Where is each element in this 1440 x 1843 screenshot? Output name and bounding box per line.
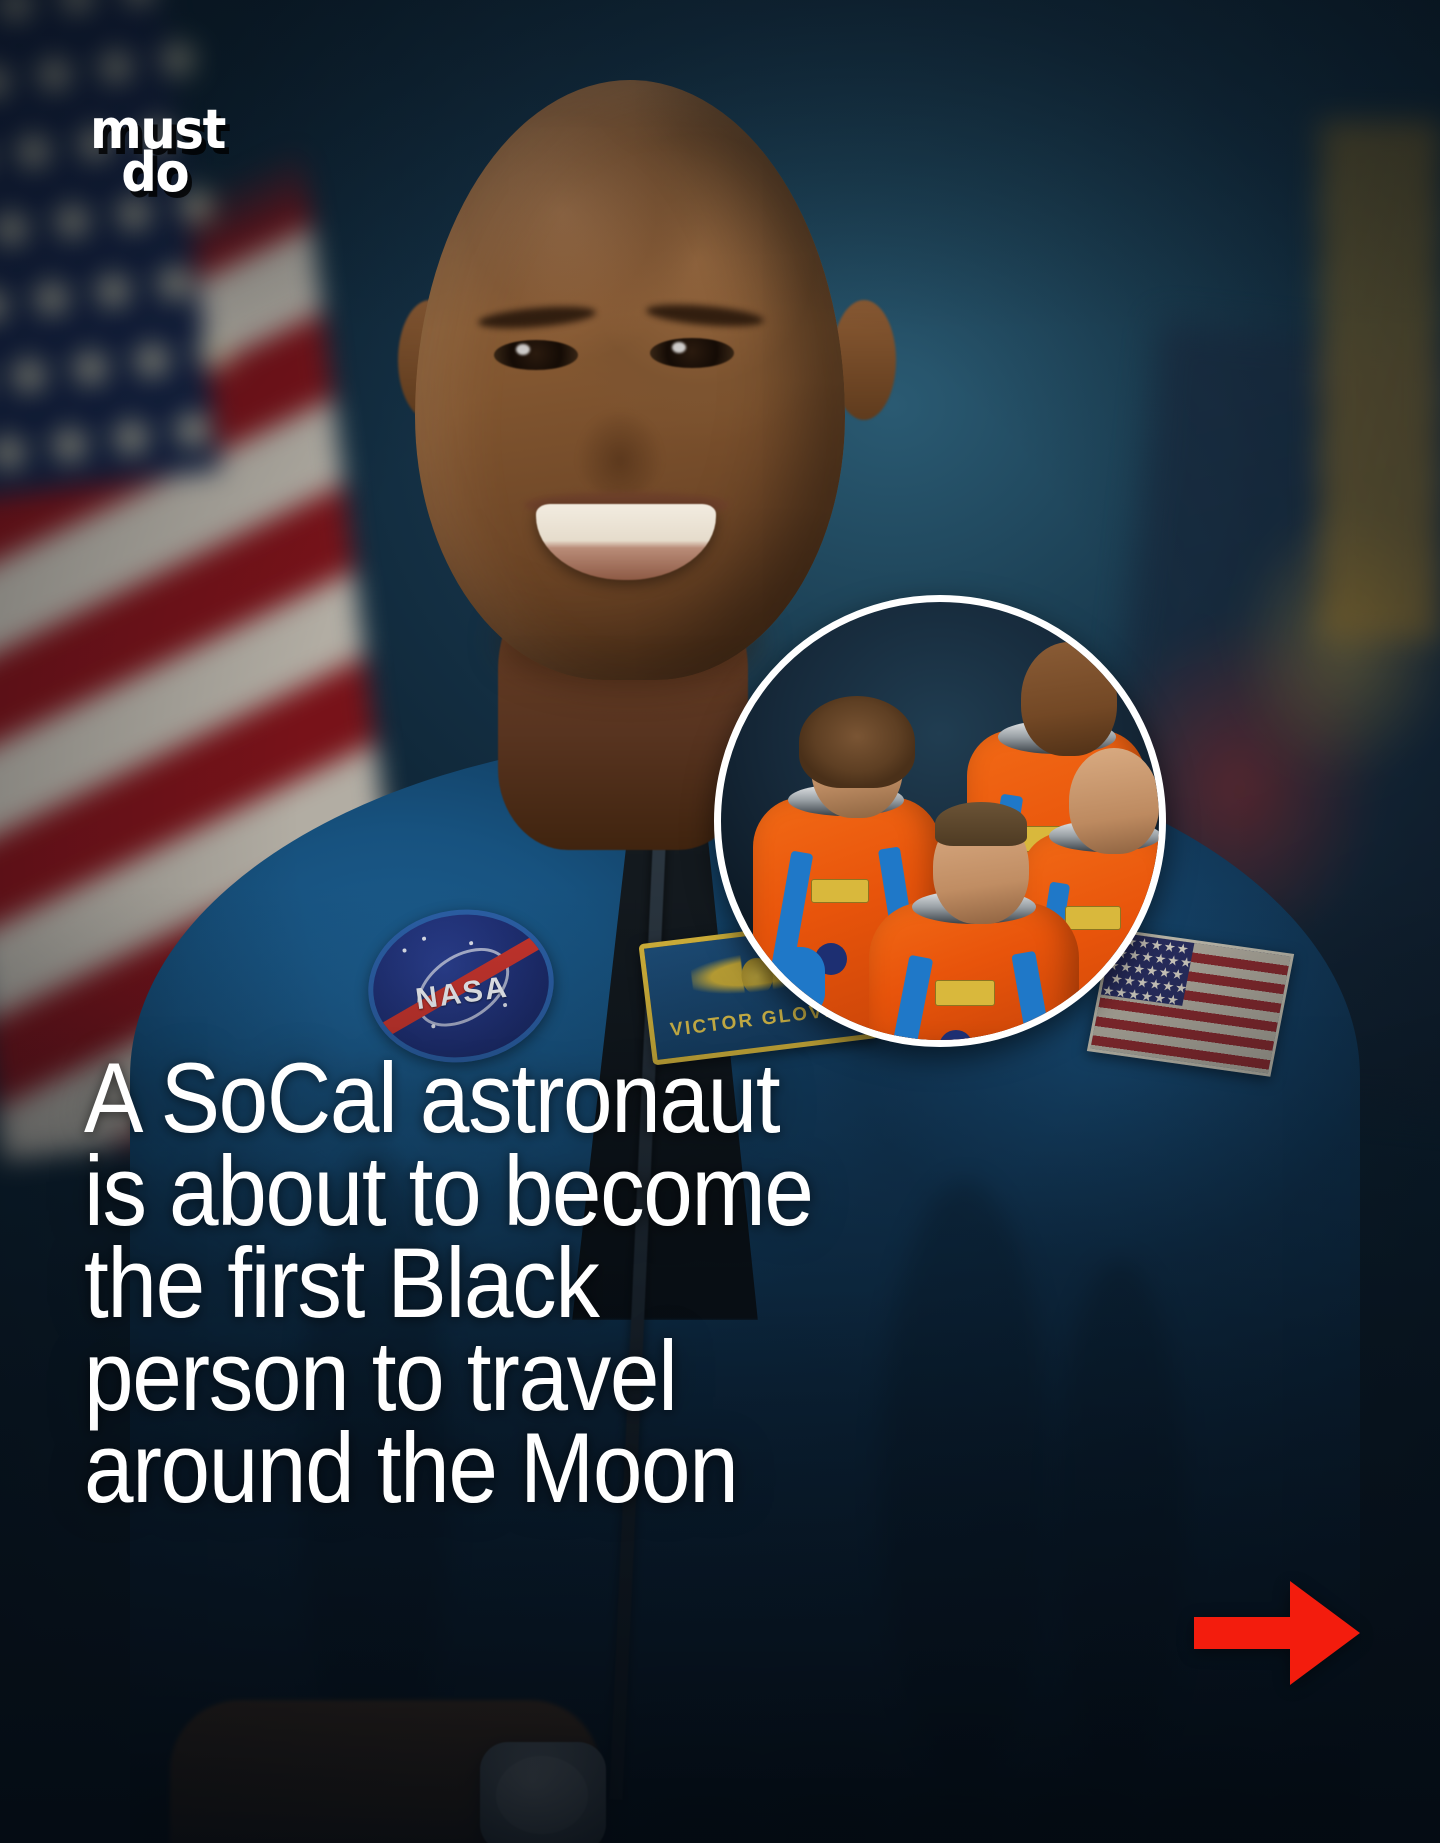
headline-line-5: around the Moon: [84, 1422, 921, 1515]
artemis-crew-group: [721, 602, 1159, 1040]
arrow-right-icon[interactable]: [1194, 1577, 1360, 1689]
crew-head-back-right: [1021, 642, 1117, 756]
flag-patch-star: [1175, 982, 1188, 994]
hero-photo: NASA VICTOR GLOVER: [0, 0, 1440, 1843]
flag-patch-star: [1158, 966, 1171, 978]
headline-line-4: person to travel: [84, 1330, 921, 1423]
nose: [572, 368, 668, 496]
crew-hair-front-center: [935, 802, 1027, 846]
flag-patch-star: [1180, 956, 1193, 968]
headline-line-3: the first Black: [84, 1237, 921, 1330]
social-card: NASA VICTOR GLOVER must do: [0, 0, 1440, 1843]
flag-patch-star: [1166, 994, 1179, 1006]
crew-head-right: [1069, 748, 1159, 854]
crew-photo-inset[interactable]: [714, 595, 1166, 1047]
watch-face: [496, 1756, 588, 1834]
headline-line-2: is about to become: [84, 1145, 921, 1238]
flag-patch-star: [1171, 968, 1184, 980]
flag-patch-star: [1176, 943, 1189, 955]
flag-patch-star: [1163, 941, 1176, 953]
flag-patch-star: [1162, 980, 1175, 992]
eye-highlight-right: [672, 342, 686, 353]
wristwatch: [480, 1742, 606, 1843]
headline-line-1: A SoCal astronaut: [84, 1052, 921, 1145]
flag-patch-star: [1167, 955, 1180, 967]
eye-left: [494, 340, 578, 370]
must-do-logo[interactable]: must do: [90, 108, 225, 194]
eye-right: [650, 338, 734, 368]
astronaut-portrait: NASA VICTOR GLOVER: [0, 0, 1440, 1843]
headline: A SoCal astronaut is about to become the…: [84, 1052, 921, 1515]
eye-highlight-left: [516, 344, 530, 355]
crew-hair-back-left: [799, 696, 915, 788]
